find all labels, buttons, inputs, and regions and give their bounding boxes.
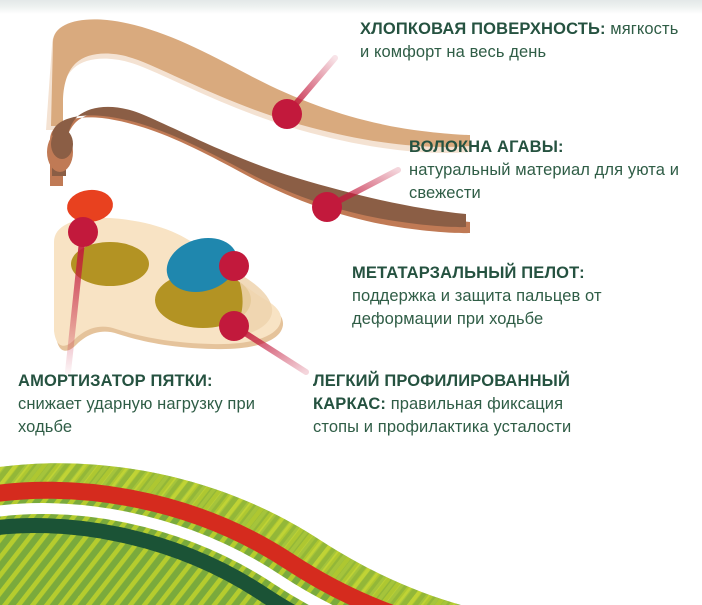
marker-dot-4[interactable] (219, 311, 249, 341)
bottom-wave-decoration (0, 440, 702, 605)
marker-dot-3[interactable] (219, 251, 249, 281)
infographic-canvas: ХЛОПКОВАЯ ПОВЕРХНОСТЬ: мягкость и комфор… (0, 0, 702, 605)
callout-title: ХЛОПКОВАЯ ПОВЕРХНОСТЬ: (360, 20, 606, 38)
callout-title: АМОРТИЗАТОР ПЯТКИ: (18, 372, 213, 390)
marker-dot-5[interactable] (68, 217, 98, 247)
marker-dot-2[interactable] (312, 192, 342, 222)
agave-fiber-layer (47, 107, 470, 233)
callout-title: ВОЛОКНА АГАВЫ: (409, 138, 564, 156)
callout-body: снижает ударную нагрузку при ходьбе (18, 395, 255, 436)
callout-body: натуральный материал для уюта и свежести (409, 161, 679, 202)
callout-metatarsal-pad: МЕТАТАРЗАЛЬНЫЙ ПЕЛОТ: поддержка и защита… (352, 262, 697, 330)
callout-body: поддержка и защита пальцев от деформации… (352, 287, 602, 328)
callout-heel-shock-absorber: АМОРТИЗАТОР ПЯТКИ: снижает ударную нагру… (18, 370, 303, 438)
marker-dot-1[interactable] (272, 99, 302, 129)
callout-cotton-surface: ХЛОПКОВАЯ ПОВЕРХНОСТЬ: мягкость и комфор… (360, 18, 690, 64)
callout-title: МЕТАТАРЗАЛЬНЫЙ ПЕЛОТ: (352, 264, 585, 282)
callout-agave-fibers: ВОЛОКНА АГАВЫ: натуральный материал для … (409, 136, 699, 204)
callout-light-profiled-frame: ЛЕГКИЙ ПРОФИЛИРОВАННЫЙ КАРКАС: правильна… (313, 370, 613, 438)
